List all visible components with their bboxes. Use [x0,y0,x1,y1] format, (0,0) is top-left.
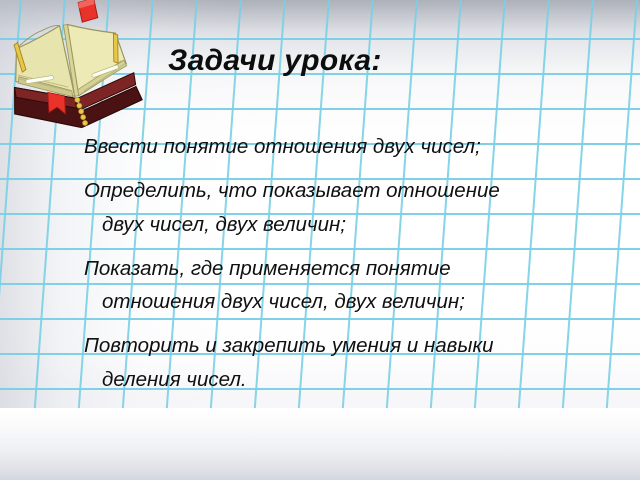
objective-item: Показать, где применяется понятие отноше… [84,252,620,319]
slide-footer-band [0,408,640,480]
objectives-list: Ввести понятие отношения двух чисел; Опр… [84,130,620,407]
objective-line-primary: Показать, где применяется понятие [84,257,451,280]
objective-line-primary: Определить, что показывает отношение [84,179,500,202]
open-book-icon [4,0,144,132]
objective-item: Определить, что показывает отношение дву… [84,174,620,241]
objective-line-continuation: деления чисел. [84,363,620,397]
objective-item: Ввести понятие отношения двух чисел; [84,130,620,164]
objective-line-continuation: двух чисел, двух величин; [84,208,620,242]
objective-line-primary: Ввести понятие отношения двух чисел; [84,135,481,158]
slide-canvas: Задачи урока: Ввести понятие отношения д… [0,0,640,480]
objective-item: Повторить и закрепить умения и навыки де… [84,329,620,396]
objective-line-primary: Повторить и закрепить умения и навыки [84,334,494,357]
objective-line-continuation: отношения двух чисел, двух величин; [84,285,620,319]
page-title: Задачи урока: [168,44,382,78]
